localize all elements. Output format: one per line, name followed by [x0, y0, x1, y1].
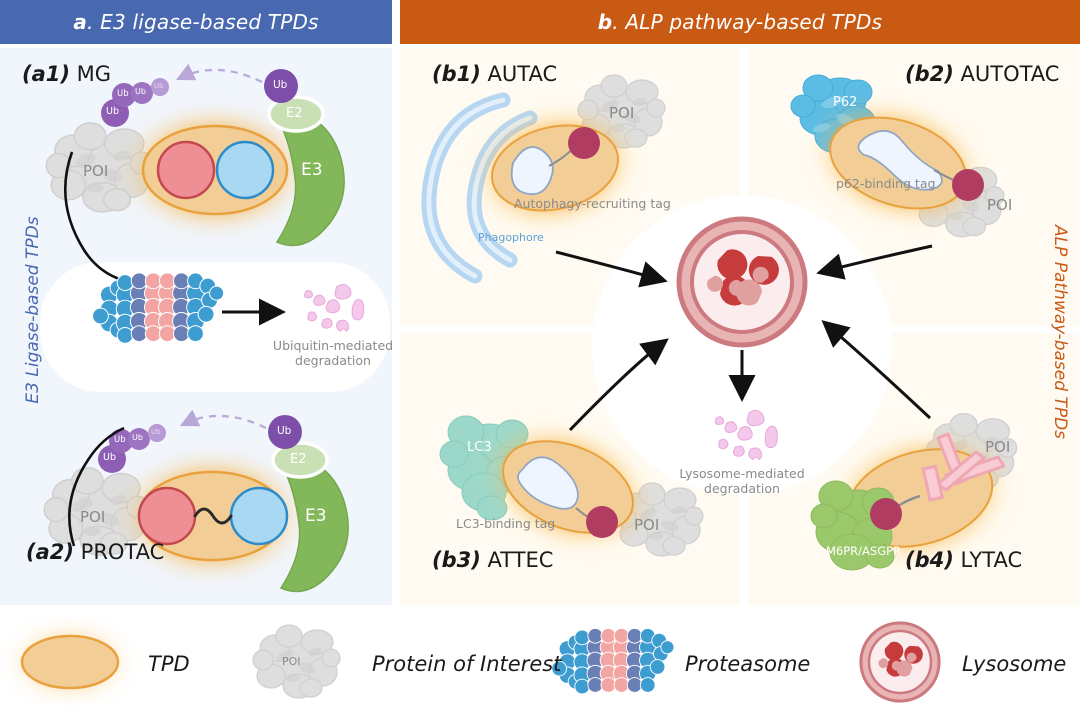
- lysosome-backdrop: [592, 195, 892, 495]
- caption-protac-name: PROTAC: [74, 540, 164, 564]
- caption-autac-name: AUTAC: [481, 62, 557, 86]
- label-phagophore: Phagophore: [478, 231, 544, 244]
- label-e3-a2: E3: [305, 506, 327, 526]
- label-ub-a2-e2: Ub: [277, 425, 291, 437]
- side-label-e3-ligase: E3 Ligase-based TPDs: [23, 185, 43, 435]
- caption-ubiquitin-degradation-line2: degradation: [248, 353, 418, 368]
- caption-ubiquitin-degradation-line1: Ubiquitin-mediated: [248, 338, 418, 353]
- banner-e3-ligase: a. E3 ligase-based TPDs: [0, 0, 392, 44]
- caption-attec-name: ATTEC: [481, 548, 554, 572]
- label-ub-a1-e2: Ub: [273, 79, 287, 91]
- label-ub-a1-3: Ub: [135, 87, 146, 96]
- banner-alp-pathway: b. ALP pathway-based TPDs: [400, 0, 1080, 44]
- legend-label-poi: Protein of Interest: [372, 652, 561, 676]
- label-e2-a1: E2: [286, 106, 303, 121]
- caption-lytac-tag: (b4): [905, 548, 954, 572]
- caption-mg-name: MG: [70, 62, 111, 86]
- banner-b-prefix: b: [598, 10, 613, 34]
- legend-label-lysosome: Lysosome: [962, 652, 1066, 676]
- legend-poi-inner-label: POI: [282, 655, 301, 668]
- label-poi-b3: POI: [634, 516, 659, 534]
- label-poi-b2: POI: [987, 196, 1012, 214]
- legend-label-tpd: TPD: [148, 652, 190, 676]
- caption-lysosome-degradation-line1: Lysosome-mediated: [657, 466, 827, 481]
- legend-label-proteasome: Proteasome: [685, 652, 810, 676]
- label-p62-binding-tag: p62-binding tag: [836, 176, 935, 191]
- label-lc3-binding-tag: LC3-binding tag: [456, 516, 555, 531]
- caption-autotac-name: AUTOTAC: [954, 62, 1060, 86]
- banner-a-text: . E3 ligase-based TPDs: [87, 10, 319, 34]
- label-e2-a2: E2: [290, 452, 307, 467]
- label-p62: P62: [833, 95, 857, 110]
- label-lc3: LC3: [467, 440, 492, 455]
- figure-root: a. E3 ligase-based TPDs b. ALP pathway-b…: [0, 0, 1080, 706]
- label-poi-a2: POI: [80, 508, 105, 526]
- caption-mg-tag: (a1): [22, 62, 70, 86]
- caption-protac: (a2) PROTAC: [26, 540, 164, 564]
- label-ub-a2-4: Ub: [151, 428, 161, 436]
- caption-autotac: (b2) AUTOTAC: [905, 62, 1059, 86]
- caption-lytac: (b4) LYTAC: [905, 548, 1022, 572]
- caption-autac: (b1) AUTAC: [432, 62, 557, 86]
- label-poi-b4: POI: [985, 438, 1010, 456]
- label-autophagy-recruiting-tag: Autophagy-recruiting tag: [514, 196, 671, 211]
- banner-b-text: . ALP pathway-based TPDs: [612, 10, 882, 34]
- label-ub-a2-2: Ub: [114, 435, 126, 445]
- caption-lytac-name: LYTAC: [954, 548, 1022, 572]
- caption-autac-tag: (b1): [432, 62, 481, 86]
- caption-mg: (a1) MG: [22, 62, 111, 86]
- label-poi-a1: POI: [83, 162, 108, 180]
- label-ub-a1-2: Ub: [117, 89, 129, 99]
- side-label-alp-pathway: ALP Pathway-based TPDs: [1050, 202, 1070, 462]
- label-m6pr-asgpr: M6PR/ASGPR: [826, 544, 901, 558]
- caption-attec: (b3) ATTEC: [432, 548, 553, 572]
- label-ub-a2-3: Ub: [132, 433, 143, 442]
- label-poi-b1: POI: [609, 104, 634, 122]
- caption-autotac-tag: (b2): [905, 62, 954, 86]
- caption-protac-tag: (a2): [26, 540, 74, 564]
- caption-lysosome-degradation-line2: degradation: [657, 481, 827, 496]
- proteasome-backdrop: [40, 262, 390, 392]
- label-ub-a1-1: Ub: [106, 106, 119, 117]
- label-e3-a1: E3: [301, 160, 323, 180]
- label-ub-a2-1: Ub: [103, 452, 116, 463]
- banner-a-prefix: a: [73, 10, 87, 34]
- label-ub-a1-4: Ub: [154, 82, 164, 90]
- caption-attec-tag: (b3): [432, 548, 481, 572]
